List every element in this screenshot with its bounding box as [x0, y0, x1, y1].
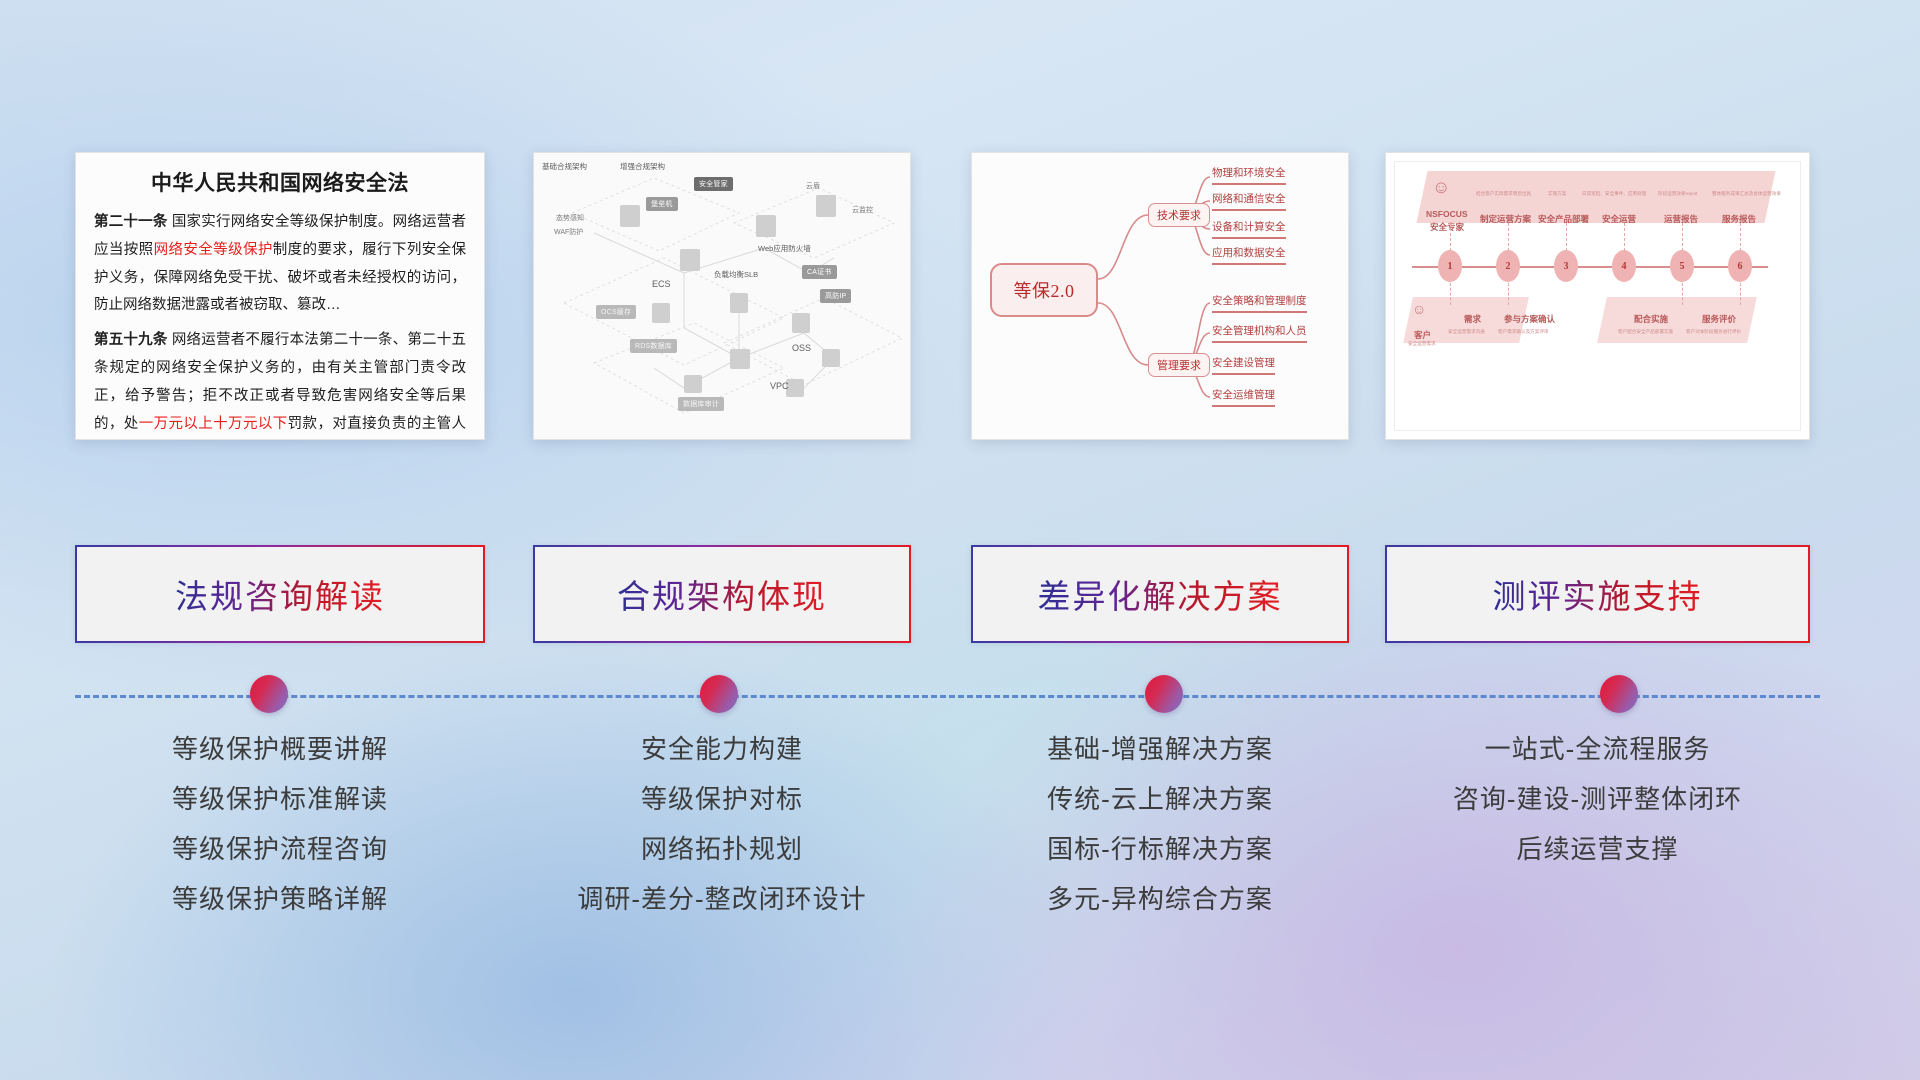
law-paragraph-21: 第二十一条 国家实行网络安全等级保护制度。网络运营者应当按照网络安全等级保护制度… — [94, 209, 466, 320]
roadmap-bottom-title-2: 配合实施 — [1634, 313, 1668, 325]
detail-column-1: 等级保护概要讲解 等级保护标准解读 等级保护流程咨询 等级保护策略详解 — [75, 736, 485, 936]
list-item: 等级保护对标 — [533, 786, 911, 812]
law-thumbnail-card[interactable]: 中华人民共和国网络安全法 第二十一条 国家实行网络安全等级保护制度。网络运营者应… — [75, 152, 485, 440]
roadmap-step-dot-4[interactable]: 4 — [1612, 250, 1636, 282]
roadmap-bottom-sub-1: 客户需求确认及方案评审 — [1498, 329, 1549, 335]
architecture-label-3: WAF防护 — [554, 227, 583, 237]
list-item: 咨询-建设-测评整体闭环 — [1385, 786, 1810, 812]
architecture-label-0: 安全管家 — [694, 177, 733, 191]
timeline-dot-3[interactable] — [1145, 675, 1183, 713]
architecture-diagram: 基础合规架构 增强合规架构 安全管家 堡垒机 态势感知 WAF防护 Web应用防… — [534, 153, 910, 439]
mindmap-root-node[interactable]: 等保2.0 — [990, 263, 1098, 317]
mindmap-leaf-mgmt-0: 安全策略和管理制度 — [1212, 293, 1307, 313]
mindmap-branch-technical[interactable]: 技术要求 — [1148, 203, 1210, 227]
mindmap-thumbnail-card[interactable]: 等保2.0 技术要求 管理要求 物理和环境安全 网络和通信安全 设备和计算安全 … — [971, 152, 1349, 440]
list-item: 等级保护流程咨询 — [75, 836, 485, 862]
architecture-header-right: 增强合规架构 — [620, 161, 665, 172]
architecture-label-14: 云盾 — [806, 181, 820, 191]
law-highlight-term: 网络安全等级保护 — [154, 242, 273, 258]
roadmap-step-sub-5: 整体服务成果汇总及总体运营效果 — [1712, 191, 1781, 197]
mindmap-leaf-tech-0: 物理和环境安全 — [1212, 165, 1286, 185]
architecture-label-15: 云监控 — [852, 205, 873, 215]
architecture-label-10: OCS缓存 — [596, 305, 636, 319]
roadmap-axis — [1412, 266, 1768, 268]
architecture-header-left: 基础合规架构 — [542, 161, 587, 172]
banner-regulation-consulting[interactable]: 法规咨询解读 — [75, 545, 485, 643]
mindmap-branch-management[interactable]: 管理要求 — [1148, 353, 1210, 377]
roadmap-brand-sub: 安全专家 — [1430, 221, 1464, 233]
architecture-label-4: Web应用防火墙 — [758, 243, 811, 254]
roadmap-dash-b3 — [1682, 283, 1683, 305]
roadmap-step-title-1: 制定运营方案 — [1480, 213, 1531, 225]
roadmap-step-title-2: 安全产品部署 — [1538, 213, 1589, 225]
list-item: 等级保护标准解读 — [75, 786, 485, 812]
law-title: 中华人民共和国网络安全法 — [94, 167, 466, 197]
timeline-dashed-line — [75, 695, 1820, 698]
mindmap-leaf-tech-1: 网络和通信安全 — [1212, 191, 1286, 211]
list-item: 安全能力构建 — [533, 736, 911, 762]
mindmap-leaf-tech-2: 设备和计算安全 — [1212, 219, 1286, 239]
roadmap-dash-6 — [1740, 223, 1741, 251]
list-item: 基础-增强解决方案 — [971, 736, 1349, 762]
architecture-label-2: 态势感知 — [556, 213, 584, 223]
banner-assessment-support[interactable]: 测评实施支持 — [1385, 545, 1810, 643]
architecture-label-8: RDS数据库 — [630, 339, 677, 353]
roadmap-step-dot-6[interactable]: 6 — [1728, 250, 1752, 282]
roadmap-bottom-sub-2: 客户配合安全产品部署实施 — [1618, 329, 1673, 335]
roadmap-step-title-3: 安全运营 — [1602, 213, 1636, 225]
list-item: 调研-差分-整改闭环设计 — [533, 886, 911, 912]
timeline-dot-4[interactable] — [1600, 675, 1638, 713]
detail-column-4: 一站式-全流程服务 咨询-建设-测评整体闭环 后续运营支撑 — [1385, 736, 1810, 886]
list-item: 等级保护策略详解 — [75, 886, 485, 912]
law-article-number-2: 第五十九条 — [94, 332, 168, 348]
person-icon: ☺ — [1432, 177, 1450, 198]
slide-canvas: 中华人民共和国网络安全法 第二十一条 国家实行网络安全等级保护制度。网络运营者应… — [0, 0, 1920, 1080]
architecture-thumbnail-card[interactable]: 基础合规架构 增强合规架构 安全管家 堡垒机 态势感知 WAF防护 Web应用防… — [533, 152, 911, 440]
roadmap-step-sub-3: 日常巡检、安全事件、应用处理 — [1582, 191, 1646, 197]
banner-label-3: 测评实施支持 — [1493, 570, 1703, 618]
roadmap-bottom-title-1: 参与方案确认 — [1504, 313, 1555, 325]
roadmap-step-title-5: 服务报告 — [1722, 213, 1756, 225]
architecture-label-9: VPC — [770, 381, 789, 391]
mindmap-leaf-mgmt-2: 安全建设管理 — [1212, 355, 1275, 375]
architecture-label-6: ECS — [652, 279, 671, 289]
law-article-number: 第二十一条 — [94, 214, 168, 230]
roadmap-step-dot-2[interactable]: 2 — [1496, 250, 1520, 282]
roadmap-dash-1 — [1450, 223, 1451, 251]
roadmap-dash-4 — [1624, 223, 1625, 251]
roadmap-dash-b4 — [1740, 283, 1741, 305]
list-item: 多元-异构综合方案 — [971, 886, 1349, 912]
roadmap-dash-3 — [1566, 223, 1567, 251]
roadmap-customer-title: 客户 — [1414, 329, 1431, 341]
architecture-label-7: OSS — [792, 343, 811, 353]
customer-icon: ☺ — [1412, 301, 1426, 317]
roadmap-dash-b2 — [1508, 283, 1509, 305]
roadmap-step-sub-2: 实施方案 — [1548, 191, 1566, 197]
roadmap-step-title-4: 运营报告 — [1664, 213, 1698, 225]
roadmap-brand: NSFOCUS — [1426, 209, 1468, 219]
banner-label-2: 差异化解决方案 — [1038, 570, 1283, 618]
roadmap-step-dot-5[interactable]: 5 — [1670, 250, 1694, 282]
detail-column-2: 安全能力构建 等级保护对标 网络拓扑规划 调研-差分-整改闭环设计 — [533, 736, 911, 936]
roadmap-dash-b1 — [1450, 283, 1451, 305]
roadmap-step-dot-1[interactable]: 1 — [1438, 250, 1462, 282]
architecture-label-13: 高防IP — [820, 289, 851, 303]
banner-label-0: 法规咨询解读 — [175, 570, 385, 618]
roadmap-diagram: ☺ NSFOCUS 安全专家 结合客户实际需求明后出具 制定运营方案 实施方案 … — [1386, 153, 1809, 439]
thumbnail-card-row: 中华人民共和国网络安全法 第二十一条 国家实行网络安全等级保护制度。网络运营者应… — [0, 152, 1920, 444]
banner-label-1: 合规架构体现 — [617, 570, 827, 618]
roadmap-dash-2 — [1508, 223, 1509, 251]
list-item: 一站式-全流程服务 — [1385, 736, 1810, 762]
architecture-label-11: 数据库审计 — [678, 397, 724, 411]
roadmap-bottom-sub-0: 安全运营需求沟通 — [1448, 329, 1485, 335]
timeline-dot-2[interactable] — [700, 675, 738, 713]
mindmap-leaf-mgmt-1: 安全管理机构和人员 — [1212, 323, 1307, 343]
list-item: 国标-行标解决方案 — [971, 836, 1349, 862]
roadmap-step-sub-1: 结合客户实际需求明后出具 — [1476, 191, 1531, 197]
architecture-label-1: 堡垒机 — [646, 197, 678, 211]
banner-row: 法规咨询解读 合规架构体现 差异化解决方案 测评实施支持 — [0, 545, 1920, 645]
roadmap-step-sub-4: 阶段运营效果report — [1658, 191, 1698, 197]
roadmap-bottom-title-3: 服务评价 — [1702, 313, 1736, 325]
architecture-label-5: 负载均衡SLB — [714, 269, 758, 280]
roadmap-step-dot-3[interactable]: 3 — [1554, 250, 1578, 282]
law-fine-highlight-1: 一万元以上十万元以下 — [139, 416, 288, 432]
list-item: 传统-云上解决方案 — [971, 786, 1349, 812]
banner-compliance-architecture[interactable]: 合规架构体现 — [533, 545, 911, 643]
list-item: 等级保护概要讲解 — [75, 736, 485, 762]
roadmap-bottom-title-0: 需求 — [1464, 313, 1481, 325]
law-text-block: 中华人民共和国网络安全法 第二十一条 国家实行网络安全等级保护制度。网络运营者应… — [76, 153, 484, 440]
roadmap-customer-sub: 安全运营需求 — [1408, 341, 1436, 347]
architecture-label-12: CA证书 — [802, 265, 837, 279]
detail-list-row: 等级保护概要讲解 等级保护标准解读 等级保护流程咨询 等级保护策略详解 安全能力… — [0, 736, 1920, 996]
list-item: 网络拓扑规划 — [533, 836, 911, 862]
timeline-dot-1[interactable] — [250, 675, 288, 713]
mindmap-leaf-tech-3: 应用和数据安全 — [1212, 245, 1286, 265]
mindmap-diagram: 等保2.0 技术要求 管理要求 物理和环境安全 网络和通信安全 设备和计算安全 … — [972, 153, 1348, 439]
banner-differentiated-solution[interactable]: 差异化解决方案 — [971, 545, 1349, 643]
law-paragraph-59: 第五十九条 网络运营者不履行本法第二十一条、第二十五条规定的网络安全保护义务的，… — [94, 327, 466, 440]
roadmap-thumbnail-card[interactable]: ☺ NSFOCUS 安全专家 结合客户实际需求明后出具 制定运营方案 实施方案 … — [1385, 152, 1810, 440]
detail-column-3: 基础-增强解决方案 传统-云上解决方案 国标-行标解决方案 多元-异构综合方案 — [971, 736, 1349, 936]
list-item: 后续运营支撑 — [1385, 836, 1810, 862]
mindmap-leaf-mgmt-3: 安全运维管理 — [1212, 387, 1275, 407]
roadmap-bottom-sub-3: 客户对本阶段服务进行评价 — [1686, 329, 1741, 335]
timeline — [0, 666, 1920, 726]
roadmap-dash-5 — [1682, 223, 1683, 251]
